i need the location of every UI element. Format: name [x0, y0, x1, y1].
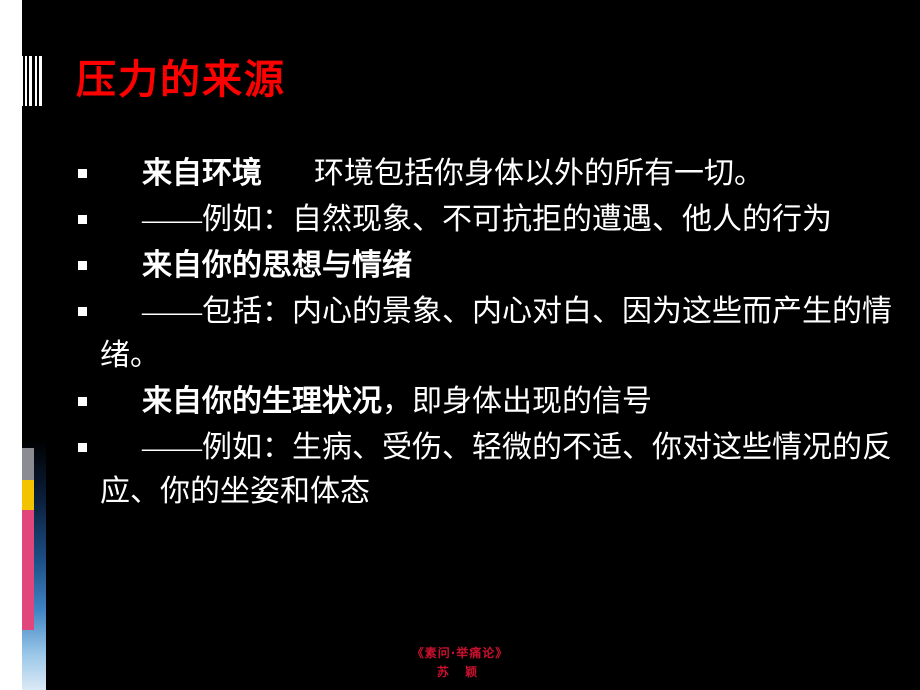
square-bullet-icon	[78, 397, 87, 406]
square-bullet-icon	[78, 443, 87, 452]
slide-footer: 《素问·举痛论》 苏 颖	[0, 644, 920, 680]
list-item: 来自你的思想与情绪	[62, 244, 918, 288]
slide-canvas: 压力的来源 来自环境环境包括你身体以外的所有一切。 ——例如：自然现象、不可抗拒…	[0, 0, 920, 690]
list-item: ——例如：自然现象、不可抗拒的遭遇、他人的行为	[62, 198, 918, 242]
left-decorative-rail	[0, 0, 46, 690]
list-item: ——例如：生病、受伤、轻微的不适、你对这些情况的反应、你的坐姿和体态	[62, 426, 918, 514]
list-item-text: 来自你的思想与情绪	[100, 244, 918, 288]
list-item-text: ——例如：生病、受伤、轻微的不适、你对这些情况的反应、你的坐姿和体态	[100, 426, 918, 514]
list-item-text: 来自环境环境包括你身体以外的所有一切。	[100, 152, 918, 196]
square-bullet-icon	[78, 307, 87, 316]
list-item-text: ——包括：内心的景象、内心对白、因为这些而产生的情绪。	[100, 290, 918, 378]
rail-chip-pink	[22, 510, 34, 630]
square-bullet-icon	[78, 169, 87, 178]
rail-barcode-marks	[20, 56, 42, 106]
square-bullet-icon	[78, 261, 87, 270]
rail-chip-yellow	[22, 480, 34, 510]
list-item-text: 来自你的生理状况，即身体出现的信号	[100, 380, 918, 424]
list-item: 来自你的生理状况，即身体出现的信号	[62, 380, 918, 424]
footer-source-title: 《素问·举痛论》	[0, 644, 920, 661]
rail-white-strip	[0, 0, 22, 690]
slide-title: 压力的来源	[76, 56, 286, 104]
rail-chip-gray	[22, 448, 34, 480]
list-item: 来自环境环境包括你身体以外的所有一切。	[62, 152, 918, 196]
square-bullet-icon	[78, 215, 87, 224]
list-item: ——包括：内心的景象、内心对白、因为这些而产生的情绪。	[62, 290, 918, 378]
footer-author: 苏 颖	[0, 663, 920, 680]
bullet-list: 来自环境环境包括你身体以外的所有一切。 ——例如：自然现象、不可抗拒的遭遇、他人…	[62, 152, 918, 516]
list-item-text: ——例如：自然现象、不可抗拒的遭遇、他人的行为	[100, 198, 918, 242]
